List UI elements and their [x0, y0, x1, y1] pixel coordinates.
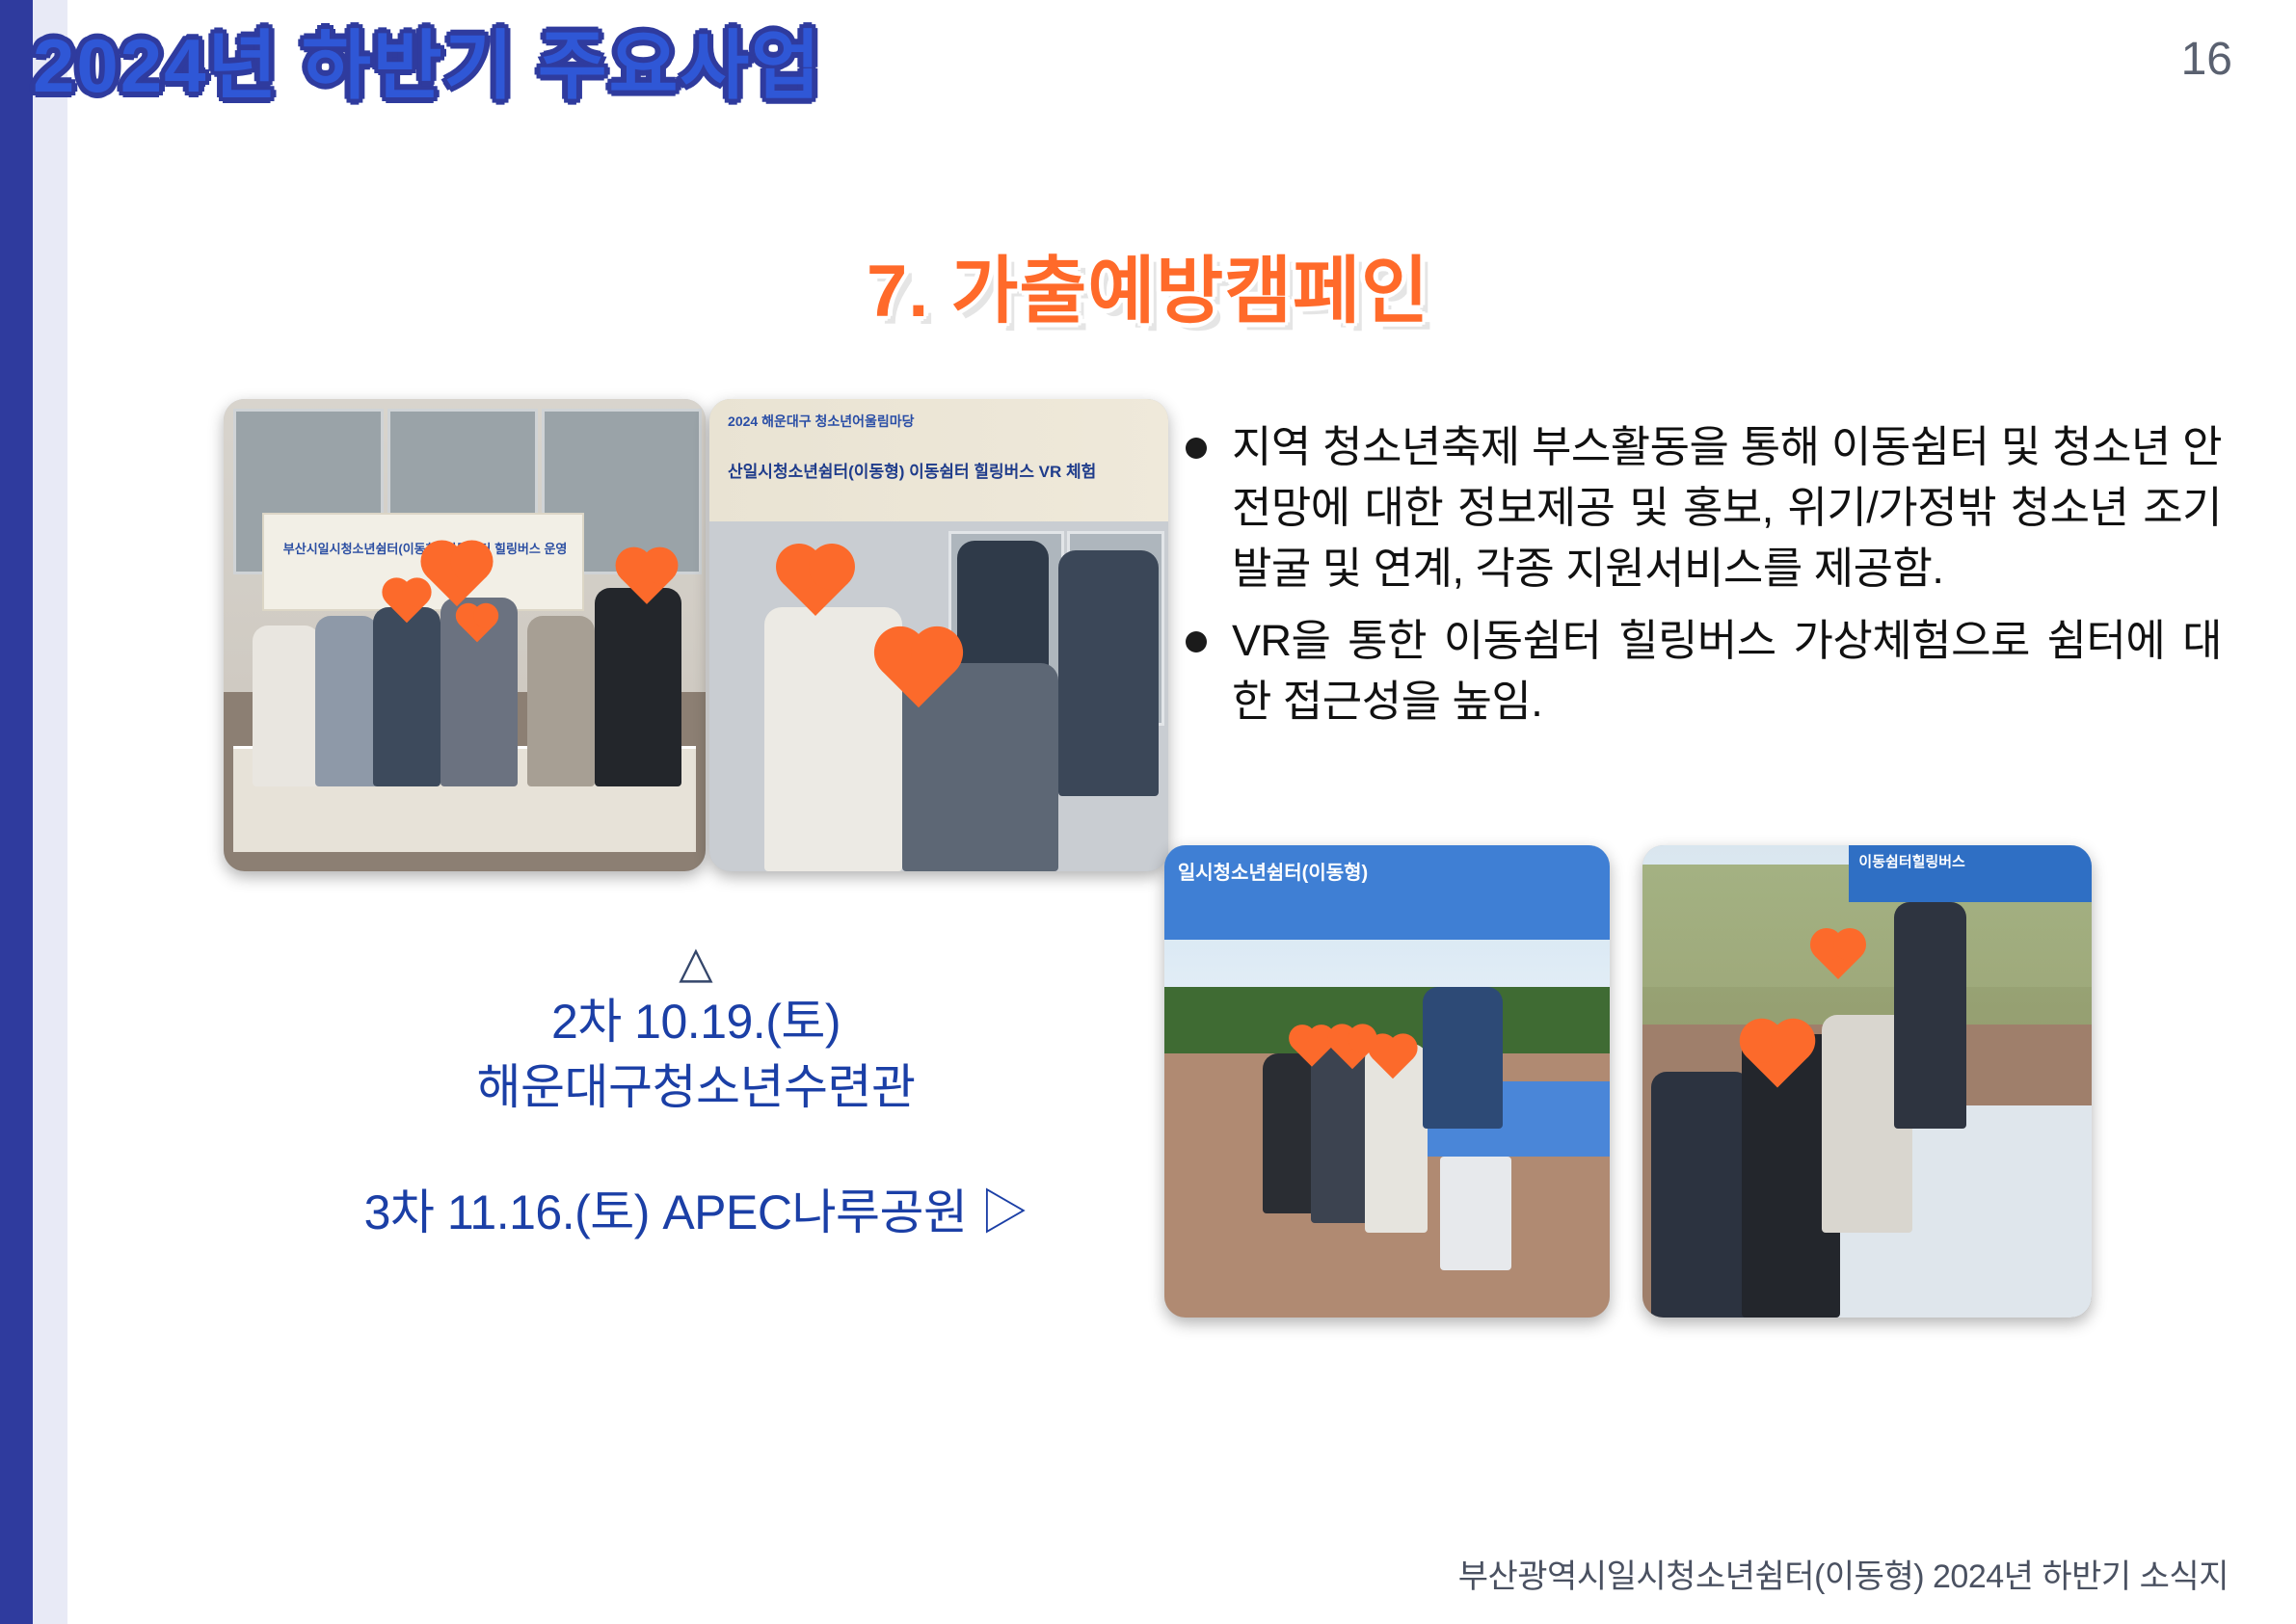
footer-text: 부산광역시일시청소년쉼터(이동형) 2024년 하반기 소식지 [1458, 1550, 2229, 1597]
photo-person [1263, 1053, 1316, 1214]
bullet-dot-icon [1186, 438, 1207, 459]
caption-spacer [224, 1120, 1168, 1174]
page-title: 2024년 하반기 주요사업 [33, 6, 822, 114]
bullet-text: VR을 통한 이동쉼터 힐링버스 가상체험으로 쉼터에 대한 접근성을 높임. [1232, 610, 2222, 732]
photo-person [253, 626, 320, 786]
photo-person [315, 616, 378, 785]
photo-chair [1440, 1157, 1511, 1270]
caption-line-1: 2차 10.19.(토) [224, 990, 1168, 1055]
photo-person [527, 616, 595, 785]
photo-banner-line1: 2024 해운대구 청소년어울림마당 [728, 412, 914, 431]
list-item: VR을 통한 이동쉼터 힐링버스 가상체험으로 쉼터에 대한 접근성을 높임. [1186, 610, 2222, 732]
booth-activity-indoor-photo: 부산시일시청소년쉼터(이동형) 이동쉼터 힐링버스 운영 [224, 399, 706, 871]
photo-person [595, 588, 681, 786]
triangle-up-icon: △ [224, 940, 1168, 984]
photo-banner: 이동쉼터힐링버스 [1849, 845, 2092, 902]
photo-person [1058, 550, 1160, 796]
caption-line-3: 3차 11.16.(토) APEC나루공원 ▷ [224, 1174, 1168, 1243]
section-title: 7. 가출예방캠페인 [0, 231, 2296, 337]
photo-banner-text: 이동쉼터힐링버스 [1858, 851, 1964, 871]
photo-tent: 일시청소년쉼터(이동형) [1164, 845, 1610, 940]
outdoor-booth-apec-photo: 일시청소년쉼터(이동형) [1164, 845, 1610, 1318]
outdoor-counseling-photo: 이동쉼터힐링버스 [1642, 845, 2092, 1318]
list-item: 지역 청소년축제 부스활동을 통해 이동쉼터 및 청소년 안전망에 대한 정보제… [1186, 416, 2222, 599]
photo-person [1651, 1072, 1750, 1318]
photo-banner: 2024 해운대구 청소년어울림마당 산일시청소년쉼터(이동형) 이동쉼터 힐링… [709, 399, 1168, 524]
photo-person [1423, 987, 1503, 1129]
photo-person [1894, 902, 1966, 1129]
photo-banner-line2: 산일시청소년쉼터(이동형) 이동쉼터 힐링버스 VR 체험 [728, 458, 1096, 482]
photo-person [373, 607, 441, 786]
caption-line-2: 해운대구청소년수련관 [224, 1055, 1168, 1121]
bullet-dot-icon [1186, 631, 1207, 652]
photo-tent-text: 일시청소년쉼터(이동형) [1178, 857, 1368, 885]
photo-person [1311, 1044, 1369, 1223]
page-number: 16 [2181, 33, 2232, 86]
bullet-text: 지역 청소년축제 부스활동을 통해 이동쉼터 및 청소년 안전망에 대한 정보제… [1232, 416, 2222, 599]
bullet-list: 지역 청소년축제 부스활동을 통해 이동쉼터 및 청소년 안전망에 대한 정보제… [1186, 416, 2222, 743]
caption-block: △ 2차 10.19.(토) 해운대구청소년수련관 3차 11.16.(토) A… [224, 940, 1168, 1243]
vr-experience-photo: 2024 해운대구 청소년어울림마당 산일시청소년쉼터(이동형) 이동쉼터 힐링… [709, 399, 1168, 871]
